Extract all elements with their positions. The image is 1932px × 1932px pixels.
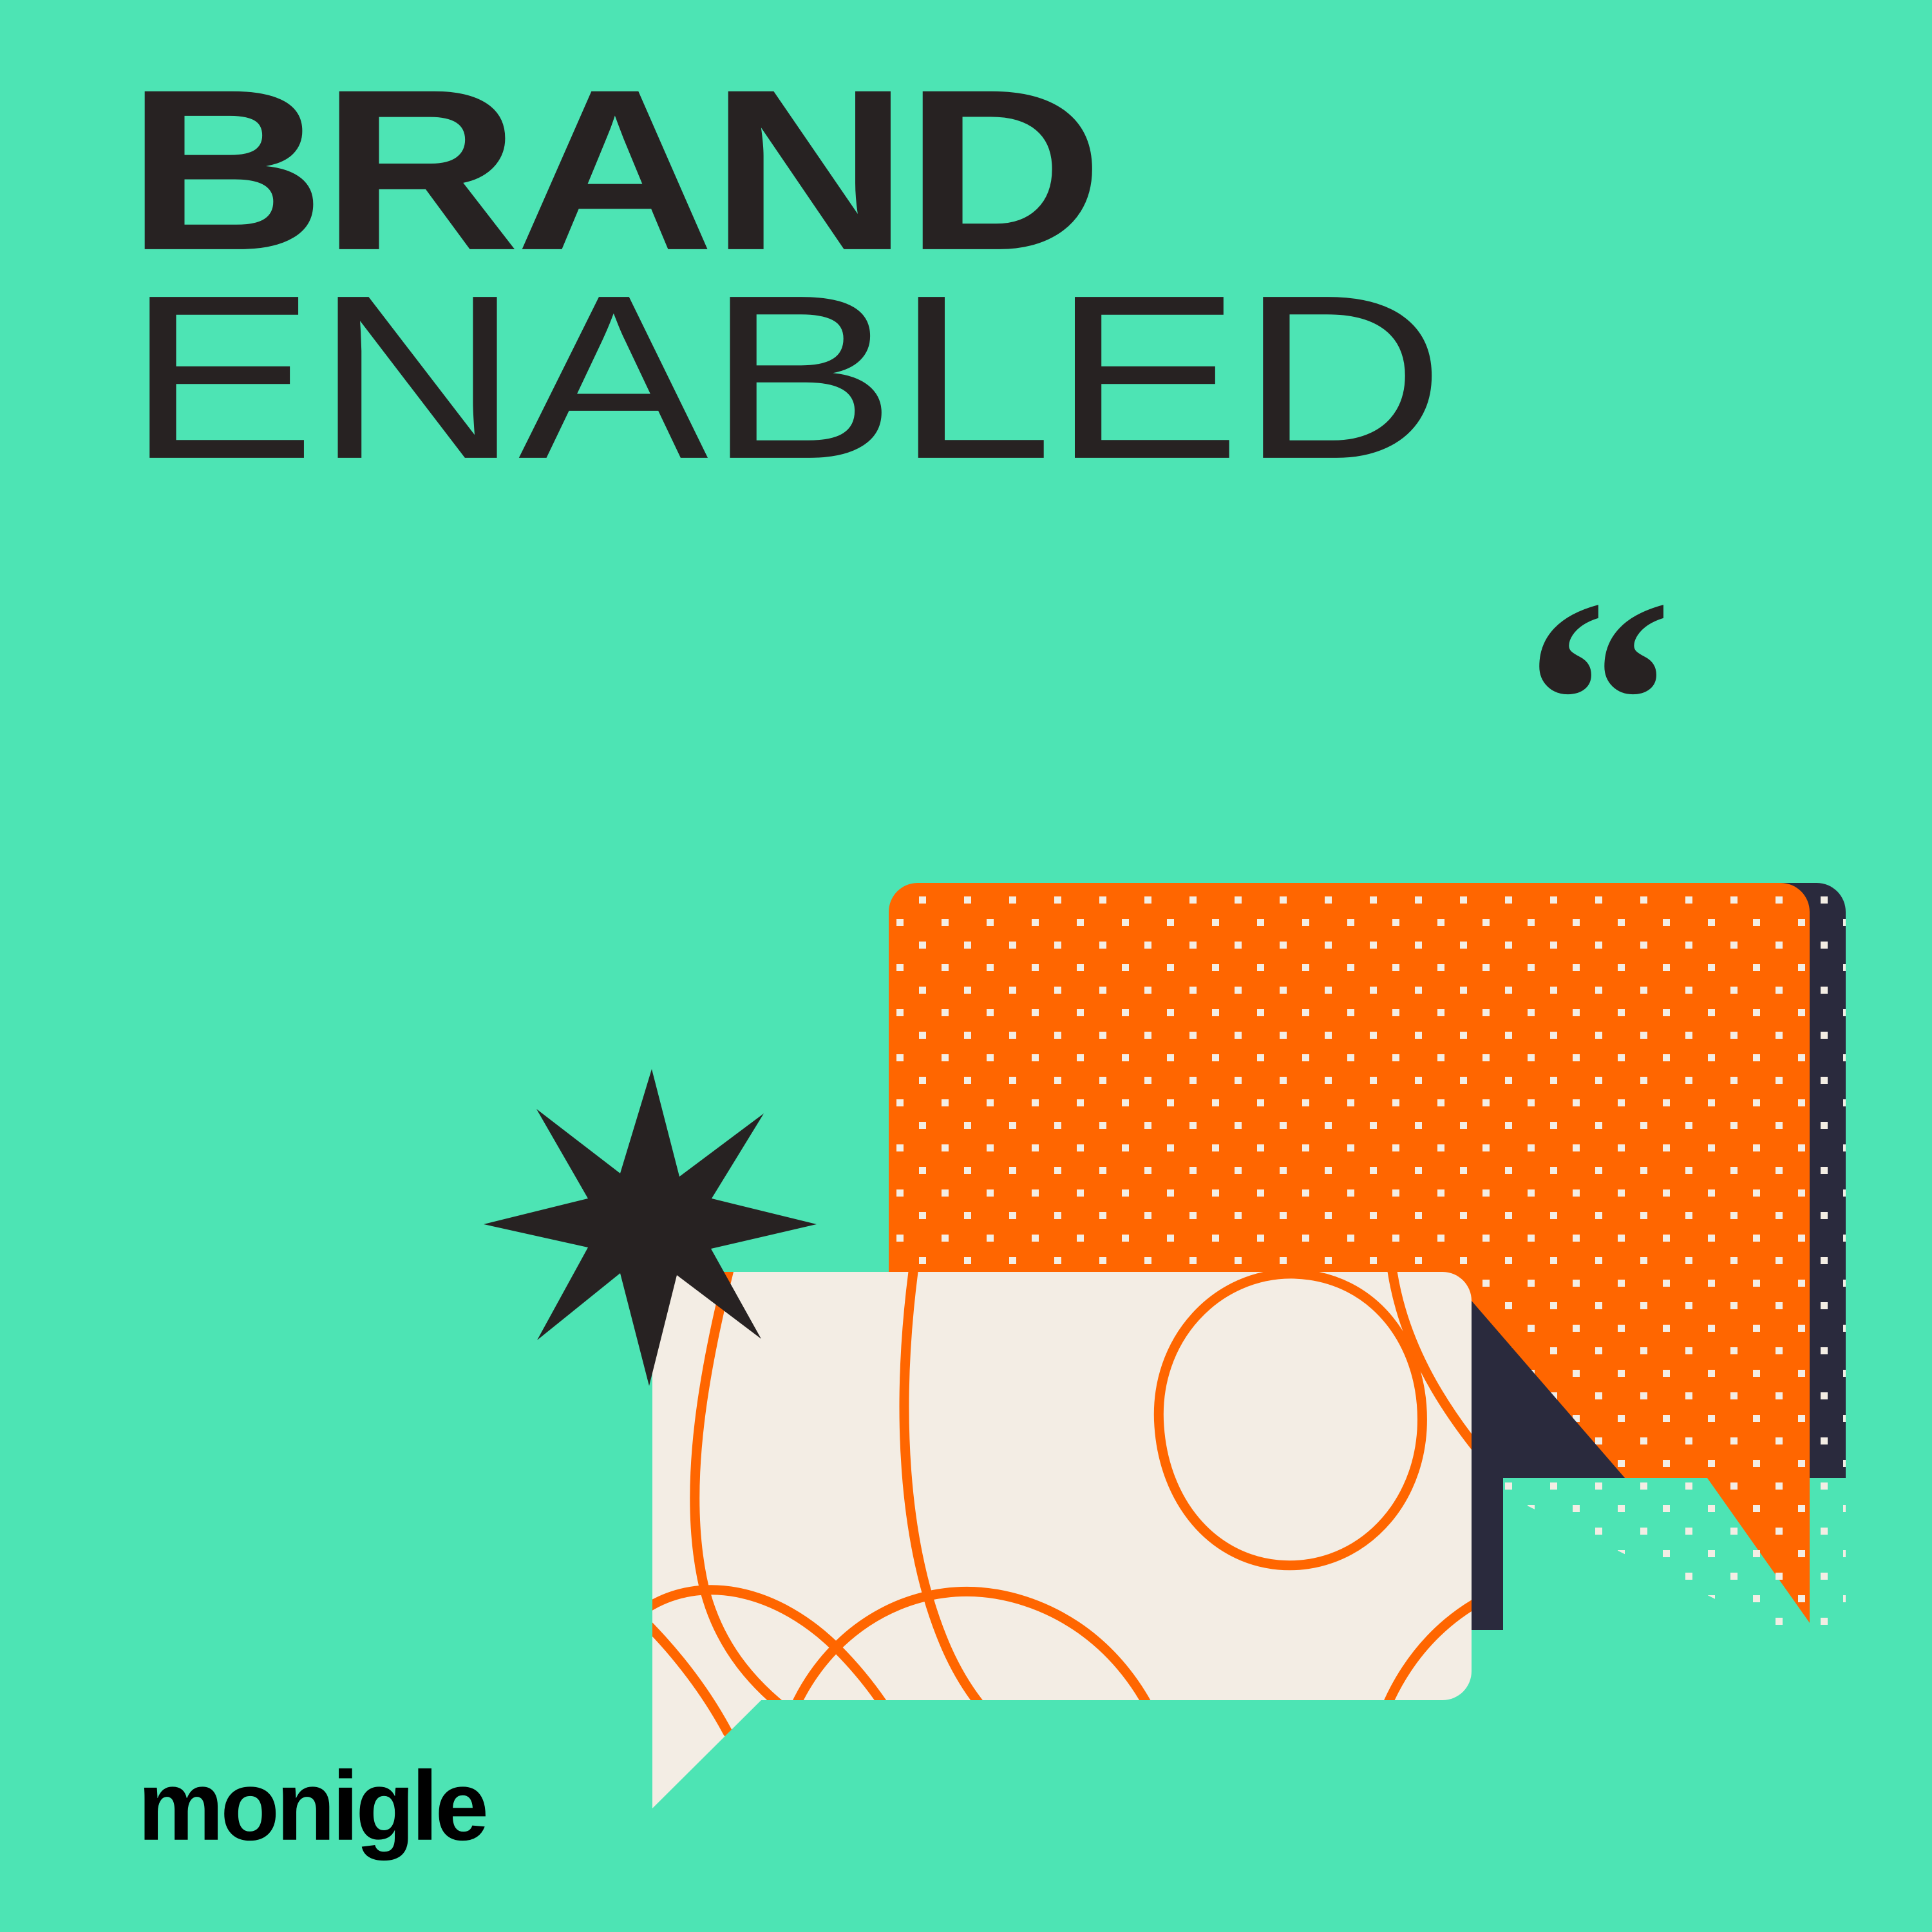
- cream-bubble-shadow-lower: [1472, 1478, 1503, 1630]
- quotation-mark-icon: “: [1525, 554, 1673, 850]
- monigle-logo: monigle: [138, 1749, 486, 1862]
- podcast-cover: BRAND ENABLED “ monigle: [0, 0, 1932, 1932]
- cream-speech-bubble: [618, 1262, 1565, 1808]
- title-line-enabled: ENABLED: [126, 281, 1932, 473]
- title-line-brand: BRAND: [126, 76, 1932, 264]
- cover-title: BRAND ENABLED: [126, 76, 1672, 455]
